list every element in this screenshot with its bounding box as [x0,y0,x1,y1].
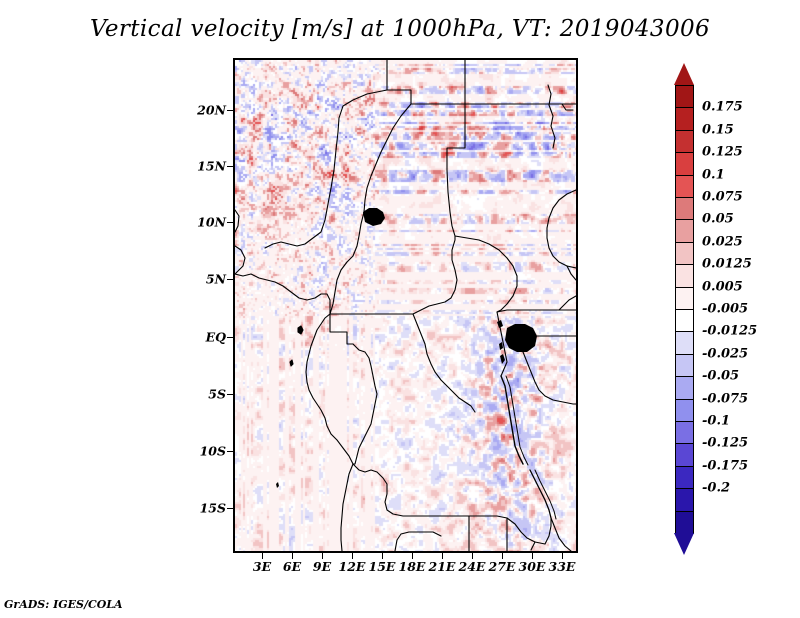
y-tick-mark [227,166,233,167]
y-tick-label-20N: 20N [197,103,226,118]
x-tick-label-9E: 9E [313,559,331,574]
x-tick-label-18E: 18E [399,559,426,574]
x-tick-mark [292,553,293,559]
x-tick-mark [502,553,503,559]
colorbar-tick-label: -0.2 [702,481,730,496]
y-tick-label-15S: 15S [200,501,226,516]
colorbar-band [675,130,694,154]
colorbar-band [675,219,694,243]
x-tick-label-3E: 3E [253,559,271,574]
colorbar-tick-label: -0.0125 [702,324,757,339]
x-tick-label-27E: 27E [489,559,516,574]
colorbar-tick-label: -0.025 [702,346,748,361]
colorbar-band [675,354,694,378]
colorbar-tick-label: 0.175 [702,100,743,115]
colorbar-tick-label: -0.175 [702,458,748,473]
y-tick-label-15N: 15N [197,159,226,174]
colorbar-band [675,242,694,266]
map-coastlines-and-borders [235,60,576,551]
colorbar-band [675,175,694,199]
y-tick-mark [227,222,233,223]
x-tick-mark [382,553,383,559]
y-tick-mark [227,394,233,395]
colorbar-band [675,488,694,512]
x-tick-mark [562,553,563,559]
colorbar-tick-label: 0.05 [702,212,734,227]
colorbar-tick-label: 0.075 [702,190,743,205]
x-tick-label-30E: 30E [519,559,546,574]
x-tick-mark [442,553,443,559]
y-tick-mark [227,337,233,338]
colorbar-band [675,376,694,400]
colorbar-tick-label: -0.005 [702,302,748,317]
colorbar-min-arrow [674,533,694,555]
colorbar-band [675,287,694,311]
colorbar-band [675,264,694,288]
x-tick-mark [352,553,353,559]
colorbar-band [675,443,694,467]
colorbar-tick-label: -0.075 [702,391,748,406]
colorbar-band [675,511,694,535]
colorbar-band [675,309,694,333]
colorbar-tick-label: 0.125 [702,145,743,160]
colorbar-tick-label: 0.0125 [702,257,752,272]
y-tick-label-EQ: EQ [206,330,226,345]
x-tick-mark [532,553,533,559]
y-tick-mark [227,508,233,509]
colorbar-band [675,399,694,423]
grads-attribution: GrADS: IGES/COLA [4,598,123,611]
colorbar-tick-label: 0.1 [702,167,725,182]
colorbar-tick-label: -0.05 [702,369,739,384]
y-axis: 20N 15N 10N 5N EQ 5S 10S 15S [170,0,226,618]
colorbar-band [675,152,694,176]
map-plot-area[interactable] [233,58,578,553]
y-tick-mark [227,110,233,111]
x-tick-label-12E: 12E [339,559,366,574]
x-tick-label-24E: 24E [459,559,486,574]
y-tick-label-10N: 10N [197,215,226,230]
x-tick-mark [322,553,323,559]
colorbar-band [675,466,694,490]
colorbar-tick-label: 0.005 [702,279,743,294]
colorbar-tick-label: 0.025 [702,234,743,249]
x-tick-label-21E: 21E [429,559,456,574]
x-tick-mark [412,553,413,559]
colorbar-tick-label: -0.125 [702,436,748,451]
colorbar-band [675,421,694,445]
colorbar-band [675,107,694,131]
colorbar-max-arrow [674,63,694,85]
colorbar-tick-label: 0.15 [702,122,734,137]
colorbar-band [675,85,694,109]
x-tick-label-6E: 6E [283,559,301,574]
x-tick-mark [262,553,263,559]
colorbar-tick-label: -0.1 [702,414,730,429]
colorbar-band [675,331,694,355]
x-tick-label-33E: 33E [549,559,576,574]
y-tick-mark [227,451,233,452]
y-tick-label-5S: 5S [208,387,226,402]
colorbar-band [675,197,694,221]
page-title: Vertical velocity [m/s] at 1000hPa, VT: … [0,16,800,42]
y-tick-label-10S: 10S [200,444,226,459]
x-tick-label-15E: 15E [369,559,396,574]
colorbar[interactable] [675,63,694,555]
x-tick-mark [472,553,473,559]
y-tick-mark [227,279,233,280]
y-tick-label-5N: 5N [206,272,226,287]
